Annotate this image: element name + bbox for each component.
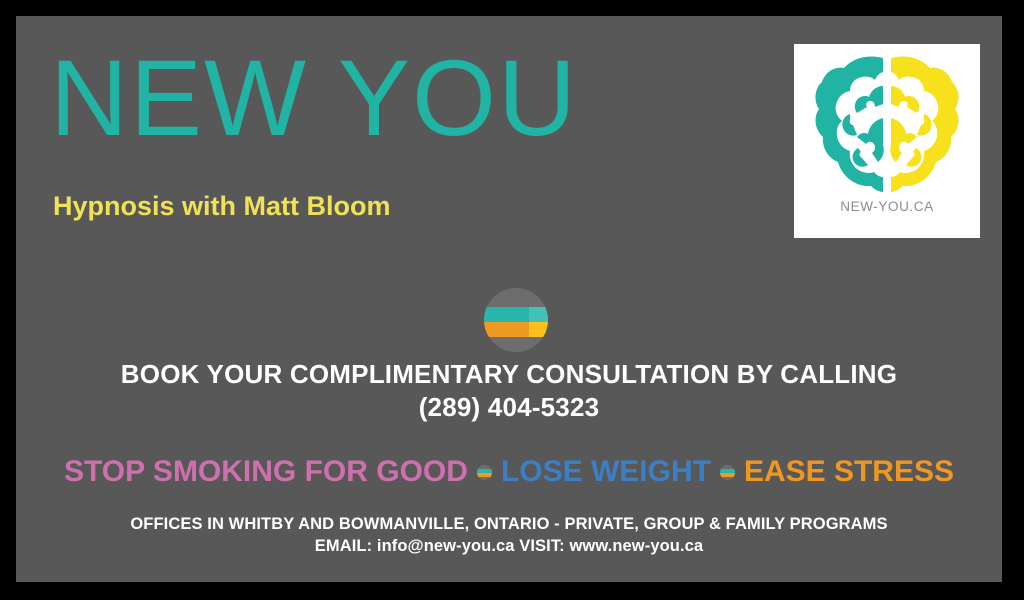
service-item-lose-weight: LOSE WEIGHT [501, 455, 711, 489]
logo-caption: NEW-YOU.CA [794, 199, 980, 214]
service-item-ease-stress: EASE STRESS [744, 455, 954, 489]
logo: NEW-YOU.CA [794, 44, 980, 238]
services-list: STOP SMOKING FOR GOOD LOSE WEIGHT EASE S… [16, 455, 1002, 489]
business-card-frame: NEW YOU Hypnosis with Matt Bloom [0, 0, 1024, 600]
business-card-body: NEW YOU Hypnosis with Matt Bloom [16, 16, 1002, 582]
service-item-stop-smoking: STOP SMOKING FOR GOOD [64, 455, 468, 489]
brand-tagline: Hypnosis with Matt Bloom [53, 191, 391, 221]
footer-locations: OFFICES IN WHITBY AND BOWMANVILLE, ONTAR… [16, 513, 1002, 535]
call-to-action: BOOK YOUR COMPLIMENTARY CONSULTATION BY … [16, 358, 1002, 424]
dot-orange-band [720, 473, 735, 477]
striped-dot-icon [477, 465, 492, 480]
ornament-teal-band [484, 307, 548, 322]
ornament-orange-band-highlight [529, 322, 548, 337]
footer: OFFICES IN WHITBY AND BOWMANVILLE, ONTAR… [16, 513, 1002, 557]
dot-orange-band [477, 473, 492, 477]
ornament-teal-band-highlight [529, 307, 548, 322]
phone-number[interactable]: (289) 404-5323 [16, 391, 1002, 424]
cta-headline: BOOK YOUR COMPLIMENTARY CONSULTATION BY … [16, 358, 1002, 391]
split-brain-icon [811, 52, 963, 197]
footer-contact[interactable]: EMAIL: info@new-you.ca VISIT: www.new-yo… [16, 535, 1002, 557]
page-title: NEW YOU [50, 44, 578, 152]
ornament-orange-band [484, 322, 548, 337]
striped-dot-icon [720, 465, 735, 480]
striped-circle-icon [484, 288, 548, 352]
